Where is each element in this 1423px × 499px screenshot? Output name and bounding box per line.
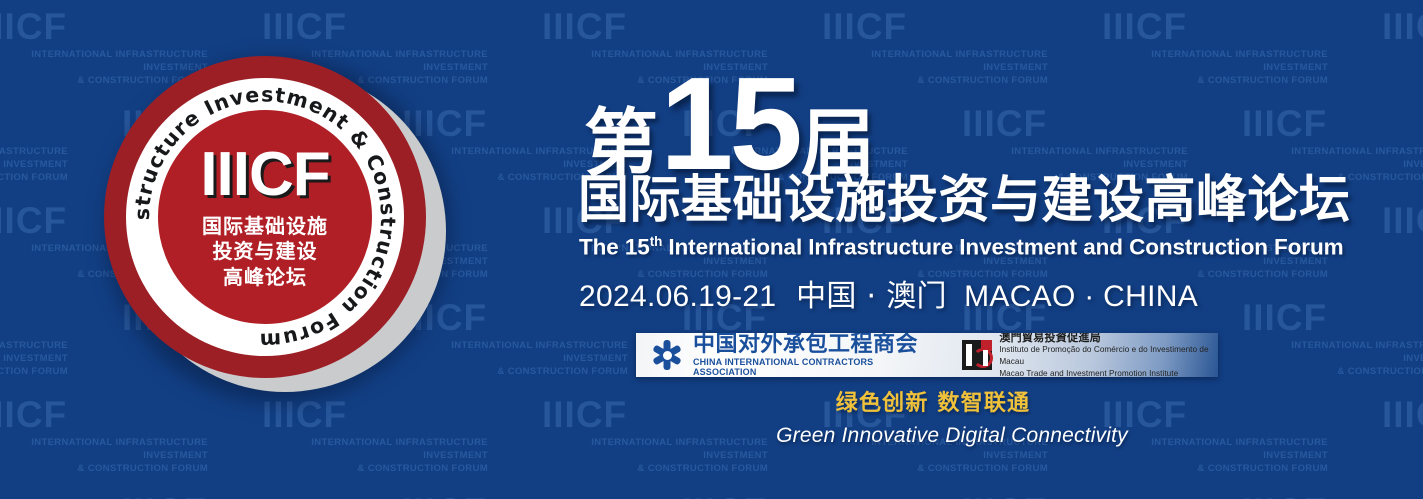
watermark-acronym: IIICF [956, 493, 1188, 499]
watermark-tile: IIICFINTERNATIONAL INFRASTRUCTURE INVEST… [0, 493, 68, 499]
edition-suffix: 届 [801, 111, 875, 178]
forum-title-ordinal-suffix: th [650, 234, 663, 249]
emblem-chinese-name: 国际基础设施 投资与建设 高峰论坛 [202, 214, 328, 291]
watermark-acronym: IIICF [1096, 8, 1328, 45]
edition-line: 第 15 届 [584, 52, 1276, 178]
watermark-subtitle-2: & CONSTRUCTION FORUM [1376, 463, 1423, 476]
watermark-subtitle-2: & CONSTRUCTION FORUM [0, 463, 208, 476]
sponsor-logo-bar: 中国对外承包工程商会 CHINA INTERNATIONAL CONTRACTO… [636, 333, 1218, 377]
watermark-subtitle-2: & CONSTRUCTION FORUM [816, 463, 1048, 476]
watermark-tile: IIICFINTERNATIONAL INFRASTRUCTURE INVEST… [956, 493, 1188, 499]
watermark-acronym: IIICF [256, 8, 488, 45]
watermark-subtitle-2: & CONSTRUCTION FORUM [1236, 366, 1423, 379]
watermark-acronym: IIICF [396, 493, 628, 499]
watermark-subtitle: INTERNATIONAL INFRASTRUCTURE INVESTMENT [1376, 243, 1423, 269]
sponsor-ipim-name-en: Macao Trade and Investment Promotion Ins… [999, 368, 1218, 377]
watermark-subtitle: INTERNATIONAL INFRASTRUCTURE INVESTMENT [256, 437, 488, 463]
event-location-chinese: 中国 · 澳门 [796, 279, 947, 314]
slogan-english: Green Innovative Digital Connectivity [628, 424, 1276, 448]
watermark-acronym: IIICF [116, 493, 348, 499]
snowflake-icon [650, 338, 684, 372]
watermark-subtitle-2: & CONSTRUCTION FORUM [0, 366, 68, 379]
watermark-subtitle: INTERNATIONAL INFRASTRUCTURE INVESTMENT [1236, 340, 1423, 366]
watermark-subtitle-2: & CONSTRUCTION FORUM [1096, 463, 1328, 476]
emblem-cn-line-1: 国际基础设施 [202, 214, 328, 240]
watermark-acronym: IIICF [676, 493, 908, 499]
ipim-monogram-icon [962, 340, 992, 370]
watermark-tile: IIICFINTERNATIONAL INFRASTRUCTURE INVEST… [0, 299, 68, 378]
watermark-subtitle-2: & CONSTRUCTION FORUM [1376, 75, 1423, 88]
edition-prefix: 第 [584, 111, 658, 178]
watermark-acronym: IIICF [0, 8, 208, 45]
sponsor-cica: 中国对外承包工程商会 CHINA INTERNATIONAL CONTRACTO… [650, 333, 920, 377]
forum-title-english-prefix: The 15 [579, 234, 650, 259]
forum-title-english: The 15th International Infrastructure In… [579, 234, 1276, 261]
watermark-subtitle-2: & CONSTRUCTION FORUM [536, 463, 768, 476]
emblem-center-block: IIICF 国际基础设施 投资与建设 高峰论坛 [158, 110, 372, 324]
watermark-tile: IIICFINTERNATIONAL INFRASTRUCTURE INVEST… [1376, 8, 1423, 87]
watermark-tile: IIICFINTERNATIONAL INFRASTRUCTURE INVEST… [116, 493, 348, 499]
sponsor-ipim-text: 澳門貿易投資促進局 Instituto de Promoção do Comér… [999, 333, 1218, 377]
emblem-cn-line-3: 高峰论坛 [202, 265, 328, 291]
watermark-tile: IIICFINTERNATIONAL INFRASTRUCTURE INVEST… [396, 493, 628, 499]
watermark-acronym: IIICF [0, 493, 68, 499]
sponsor-ipim-name-pt: Instituto de Promoção do Comércio e do I… [999, 344, 1218, 368]
watermark-tile: IIICFINTERNATIONAL INFRASTRUCTURE INVEST… [0, 105, 68, 184]
event-banner: IIICFINTERNATIONAL INFRASTRUCTURE INVEST… [0, 0, 1423, 499]
sponsor-cica-name-cn: 中国对外承包工程商会 [693, 333, 920, 356]
watermark-tile: IIICFINTERNATIONAL INFRASTRUCTURE INVEST… [1236, 493, 1423, 499]
emblem-cn-line-2: 投资与建设 [202, 239, 328, 265]
watermark-acronym: IIICF [1376, 8, 1423, 45]
watermark-tile: IIICFINTERNATIONAL INFRASTRUCTURE INVEST… [1376, 202, 1423, 281]
watermark-subtitle-2: & CONSTRUCTION FORUM [256, 463, 488, 476]
forum-title-chinese: 国际基础设施投资与建设高峰论坛 [578, 174, 1276, 228]
slogan-block: 绿色创新 数智联通 Green Innovative Digital Conne… [576, 390, 1276, 448]
watermark-acronym: IIICF [1236, 493, 1423, 499]
watermark-subtitle: INTERNATIONAL INFRASTRUCTURE INVESTMENT [1376, 49, 1423, 75]
sponsor-ipim: 澳門貿易投資促進局 Instituto de Promoção do Comér… [962, 333, 1218, 377]
emblem-acronym: IIICF [200, 144, 329, 206]
sponsor-cica-name-en: CHINA INTERNATIONAL CONTRACTORS ASSOCIAT… [693, 357, 920, 377]
watermark-acronym: IIICF [1376, 202, 1423, 239]
event-date-range: 2024.06.19-21 [579, 280, 776, 313]
event-location-english: MACAO · CHINA [964, 280, 1198, 313]
forum-title-english-rest: International Infrastructure Investment … [662, 234, 1343, 259]
watermark-subtitle: INTERNATIONAL INFRASTRUCTURE INVESTMENT [0, 340, 68, 366]
watermark-subtitle-2: & CONSTRUCTION FORUM [0, 172, 68, 185]
watermark-subtitle-2: & CONSTRUCTION FORUM [1376, 269, 1423, 282]
edition-number: 15 [660, 70, 799, 178]
watermark-acronym: IIICF [0, 105, 68, 142]
watermark-acronym: IIICF [536, 8, 768, 45]
watermark-acronym: IIICF [816, 8, 1048, 45]
watermark-acronym: IIICF [0, 299, 68, 336]
watermark-tile: IIICFINTERNATIONAL INFRASTRUCTURE INVEST… [1376, 396, 1423, 475]
watermark-subtitle: INTERNATIONAL INFRASTRUCTURE INVESTMENT [0, 437, 208, 463]
sponsor-cica-text: 中国对外承包工程商会 CHINA INTERNATIONAL CONTRACTO… [693, 333, 920, 377]
slogan-chinese: 绿色创新 数智联通 [590, 390, 1276, 418]
date-location-line: 2024.06.19-21 中国 · 澳门 MACAO · CHINA [579, 271, 1276, 315]
watermark-subtitle: INTERNATIONAL INFRASTRUCTURE INVESTMENT [0, 146, 68, 172]
headline-block: 第 15 届 国际基础设施投资与建设高峰论坛 The 15th Internat… [576, 52, 1276, 315]
watermark-tile: IIICFINTERNATIONAL INFRASTRUCTURE INVEST… [676, 493, 908, 499]
iiicf-emblem-logo: International Infrastructure Investment … [98, 48, 458, 408]
watermark-subtitle: INTERNATIONAL INFRASTRUCTURE INVESTMENT [1376, 437, 1423, 463]
sponsor-ipim-name-cn: 澳門貿易投資促進局 [999, 333, 1218, 344]
watermark-acronym: IIICF [1376, 396, 1423, 433]
